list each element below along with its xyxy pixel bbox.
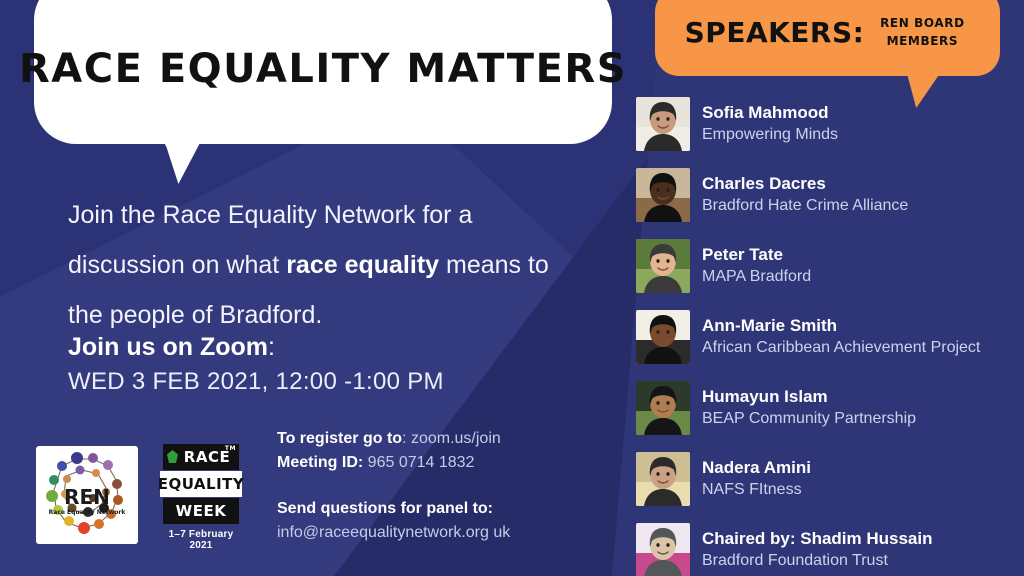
registration-details: To register go to: zoom.us/join Meeting … [277, 427, 607, 545]
spacer [277, 475, 607, 497]
register-label: To register go to [277, 430, 402, 447]
rew-dates: 1–7 February 2021 [163, 529, 239, 551]
race-equality-week-logo: RACE TM EQUALITY WEEK 1–7 February 2021 [163, 444, 239, 544]
speaker-name: Peter Tate [702, 244, 811, 266]
speaker-organisation: Bradford Foundation Trust [702, 550, 933, 572]
meeting-id-label: Meeting ID: [277, 454, 363, 471]
speaker-row[interactable]: Humayun IslamBEAP Community Partnership [636, 372, 1024, 443]
leaf-icon [167, 450, 178, 463]
speaker-avatar [636, 239, 690, 293]
zoom-details: Join us on Zoom: WED 3 FEB 2021, 12:00 -… [68, 333, 588, 396]
speaker-avatar [636, 523, 690, 576]
speakers-subtitle: REN BOARD MEMBERS [874, 14, 970, 50]
speaker-organisation: Empowering Minds [702, 124, 838, 146]
register-url[interactable]: zoom.us/join [411, 430, 501, 447]
speaker-name: Ann-Marie Smith [702, 315, 980, 337]
speaker-row[interactable]: Nadera AminiNAFS FItness [636, 443, 1024, 514]
meeting-id-value: 965 0714 1832 [368, 454, 475, 471]
questions-label: Send questions for panel to: [277, 500, 493, 517]
intro-paragraph: Join the Race Equality Network for a dis… [68, 190, 588, 340]
svg-text:Race Equality Network: Race Equality Network [49, 509, 127, 516]
rew-bar-race: RACE TM [163, 444, 239, 470]
svg-text:REN: REN [64, 485, 110, 509]
speaker-name: Nadera Amini [702, 457, 811, 479]
questions-email[interactable]: info@raceequalitynetwork.org uk [277, 524, 510, 541]
speaker-organisation: Bradford Hate Crime Alliance [702, 195, 908, 217]
speaker-row[interactable]: Charles DacresBradford Hate Crime Allian… [636, 159, 1024, 230]
speaker-text: Sofia MahmoodEmpowering Minds [702, 102, 838, 146]
speakers-title: SPEAKERS: [685, 16, 865, 49]
speaker-avatar [636, 452, 690, 506]
intro-line-1: Join the Race Equality Network for a [68, 201, 472, 229]
speaker-text: Charles DacresBradford Hate Crime Allian… [702, 173, 908, 217]
rew-text-race: RACE [184, 448, 230, 466]
questions-row: Send questions for panel to: [277, 497, 607, 521]
speaker-text: Chaired by: Shadim HussainBradford Found… [702, 528, 933, 572]
speaker-organisation: African Caribbean Achievement Project [702, 337, 980, 359]
speaker-text: Peter TateMAPA Bradford [702, 244, 811, 288]
ren-logo-graphic: REN Race Equality Network [36, 446, 138, 544]
speaker-row[interactable]: Peter TateMAPA Bradford [636, 230, 1024, 301]
speaker-name: Chaired by: Shadim Hussain [702, 528, 933, 550]
register-colon: : [402, 430, 406, 447]
speaker-row[interactable]: Chaired by: Shadim HussainBradford Found… [636, 514, 1024, 576]
speaker-list: Sofia MahmoodEmpowering MindsCharles Dac… [636, 88, 1024, 576]
speaker-text: Ann-Marie SmithAfrican Caribbean Achieve… [702, 315, 980, 359]
speakers-header: SPEAKERS: REN BOARD MEMBERS [655, 0, 1000, 76]
intro-line-2-bold: race equality [286, 251, 439, 279]
page-title: RACE EQUALITY MATTERS [34, 10, 612, 128]
speaker-text: Nadera AminiNAFS FItness [702, 457, 811, 501]
trademark-icon: TM [225, 445, 236, 452]
rew-bar-equality: EQUALITY [160, 471, 242, 497]
poster-canvas: RACE EQUALITY MATTERS Join the Race Equa… [0, 0, 1024, 576]
speaker-avatar [636, 310, 690, 364]
speaker-name: Charles Dacres [702, 173, 908, 195]
speaker-avatar [636, 381, 690, 435]
meeting-id-row: Meeting ID: 965 0714 1832 [277, 451, 607, 475]
event-datetime: WED 3 FEB 2021, 12:00 -1:00 PM [68, 368, 588, 396]
speaker-row[interactable]: Sofia MahmoodEmpowering Minds [636, 88, 1024, 159]
speaker-text: Humayun IslamBEAP Community Partnership [702, 386, 916, 430]
questions-email-row: info@raceequalitynetwork.org uk [277, 521, 607, 545]
speaker-name: Humayun Islam [702, 386, 916, 408]
speaker-row[interactable]: Ann-Marie SmithAfrican Caribbean Achieve… [636, 301, 1024, 372]
speaker-organisation: BEAP Community Partnership [702, 408, 916, 430]
zoom-heading: Join us on Zoom: [68, 333, 588, 362]
zoom-heading-colon: : [268, 333, 275, 361]
zoom-heading-text: Join us on Zoom [68, 333, 268, 361]
speaker-organisation: MAPA Bradford [702, 266, 811, 288]
intro-line-2-pre: discussion on what [68, 251, 286, 279]
speaker-avatar [636, 168, 690, 222]
speaker-avatar [636, 97, 690, 151]
ren-logo: REN Race Equality Network [36, 446, 138, 544]
rew-bar-week: WEEK [163, 498, 239, 524]
register-row: To register go to: zoom.us/join [277, 427, 607, 451]
speaker-name: Sofia Mahmood [702, 102, 838, 124]
speaker-organisation: NAFS FItness [702, 479, 811, 501]
